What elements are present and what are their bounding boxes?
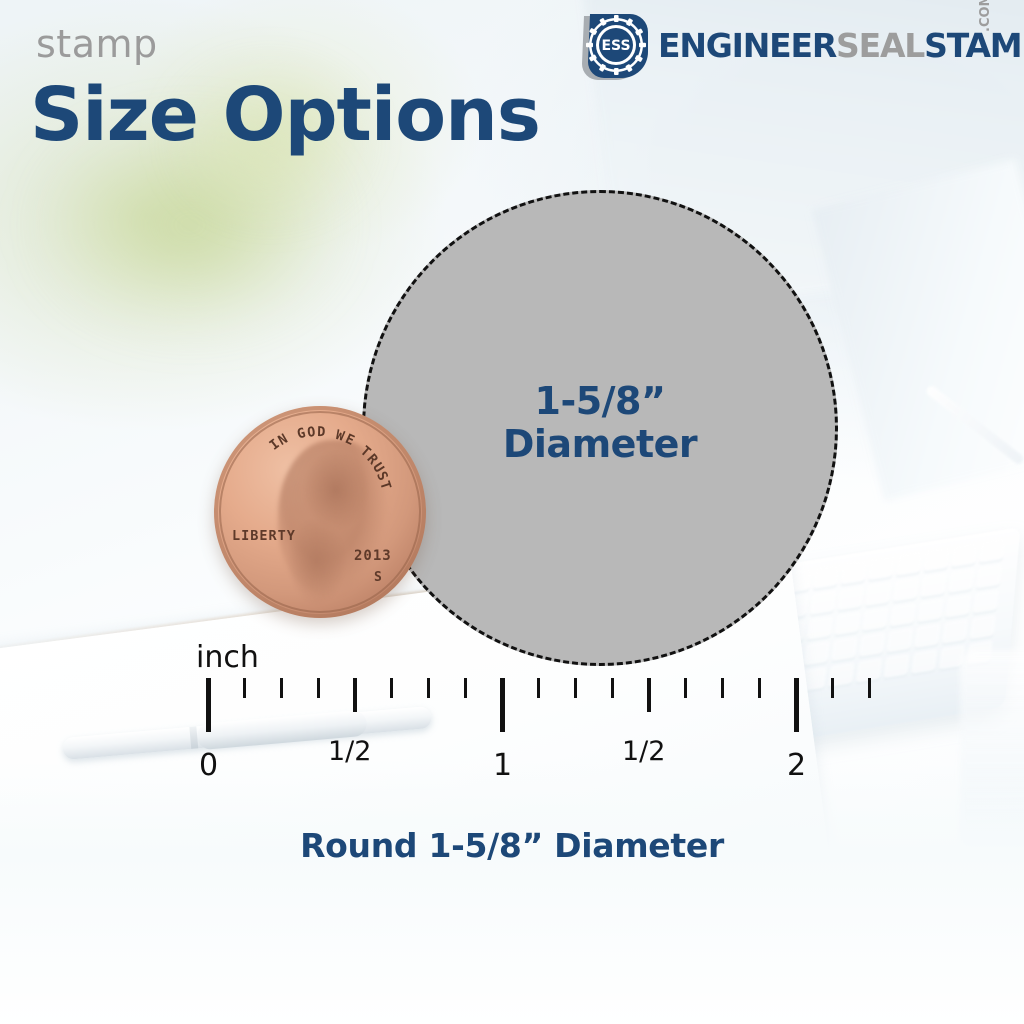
penny-mint-mark: S — [374, 570, 383, 585]
stamp-size-line2: Diameter — [362, 423, 838, 466]
page-title: Size Options — [30, 78, 540, 152]
stamp-caption: Round 1-5/8” Diameter — [0, 826, 1024, 865]
penny-scale-reference: IN GOD WE TRUST LIBERTY 2013 S — [214, 406, 426, 618]
stamp-size-line1: 1-5/8” — [362, 380, 838, 423]
stamp-size-options-graphic: stamp Size Options ESS — [0, 0, 1024, 1024]
brand-wordmark: ENGINEERSEALSTAMPS — [658, 26, 1024, 65]
brand-word-engineer: ENGINEER — [658, 26, 836, 65]
brand-tld: .COM — [978, 0, 993, 32]
penny-motto-text: IN GOD WE TRUST — [214, 406, 426, 618]
stamp-size-label: 1-5/8” Diameter — [362, 380, 838, 465]
brand-word-seal: SEAL — [836, 26, 924, 65]
ess-badge-icon: ESS — [580, 10, 652, 82]
brand-word-stamps: STAMPS — [924, 26, 1024, 65]
penny-liberty-text: LIBERTY — [232, 528, 296, 544]
penny-year-text: 2013 — [354, 548, 392, 564]
page-kicker: stamp — [36, 22, 158, 66]
svg-text:ESS: ESS — [601, 38, 630, 54]
brand-logo[interactable]: ESS ENGINEERSEALSTAMPS .COM — [580, 10, 1020, 82]
background-desk-surface — [0, 760, 1024, 1024]
